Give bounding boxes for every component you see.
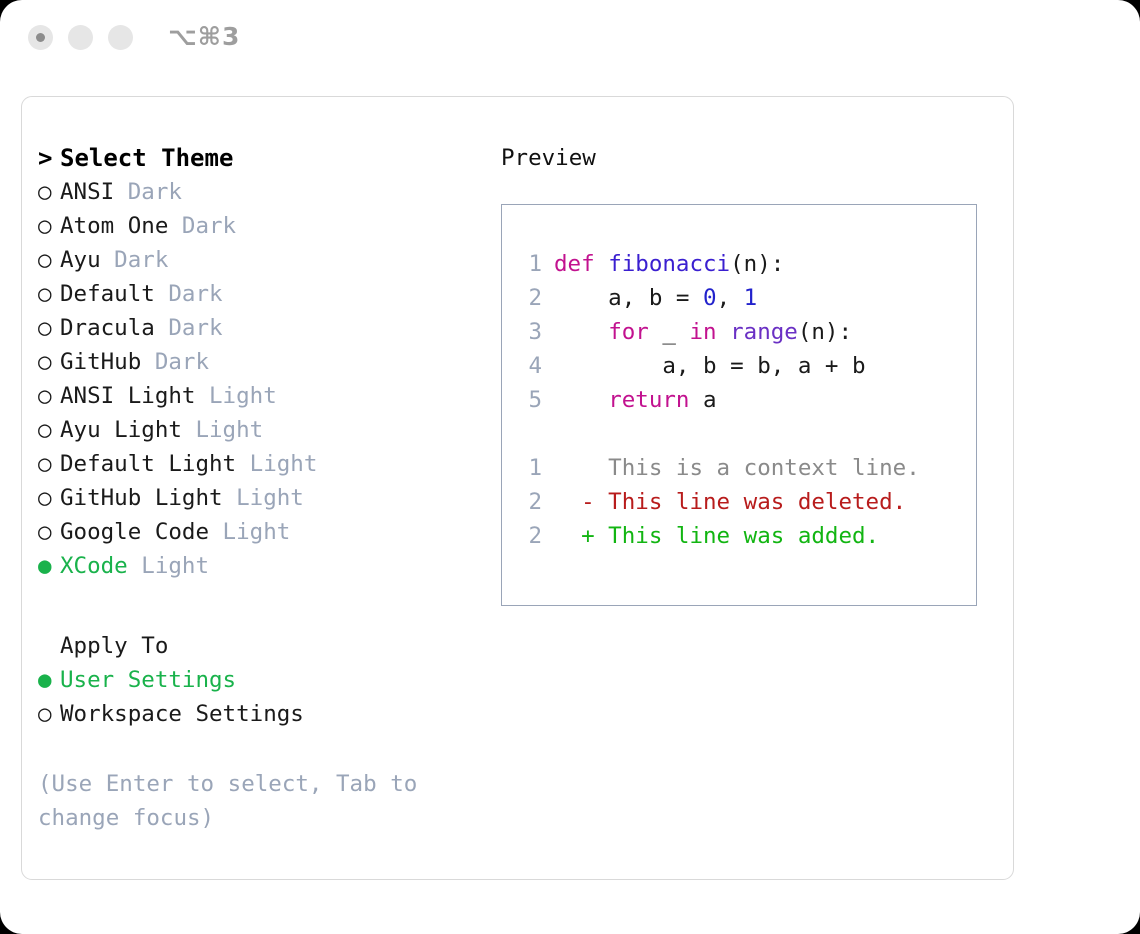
theme-item-variant: Light xyxy=(223,485,304,511)
radio-unselected-icon: ○ xyxy=(38,311,60,345)
theme-item-variant: Light xyxy=(128,553,209,579)
line-number: 4 xyxy=(516,349,542,383)
preview-panel: 1def fibonacci(n):2 a, b = 0, 13 for _ i… xyxy=(501,204,977,606)
diff-line-text: - This line was deleted. xyxy=(554,489,906,515)
line-number: 3 xyxy=(516,315,542,349)
preview-column: Preview 1def fibonacci(n):2 a, b = 0, 13… xyxy=(501,141,1001,606)
apply-to-item-name: Workspace Settings xyxy=(60,701,304,727)
theme-item-xcode[interactable]: ●XCode Light xyxy=(38,549,478,583)
code-blank-line xyxy=(516,417,920,451)
theme-item-ansi[interactable]: ○ANSI Dark xyxy=(38,175,478,209)
code-token: for xyxy=(608,319,649,345)
radio-unselected-icon: ○ xyxy=(38,481,60,515)
window-dot-2[interactable] xyxy=(68,25,93,50)
window-controls xyxy=(28,25,133,50)
radio-unselected-icon: ○ xyxy=(38,209,60,243)
code-token: range xyxy=(730,319,798,345)
select-theme-header: >Select Theme xyxy=(38,141,478,175)
radio-unselected-icon: ○ xyxy=(38,697,60,731)
code-token: def xyxy=(554,251,608,277)
apply-to-item-workspace-settings[interactable]: ○Workspace Settings xyxy=(38,697,478,731)
diff-line-ctx: 1 This is a context line. xyxy=(516,451,920,485)
radio-unselected-icon: ○ xyxy=(38,243,60,277)
theme-item-variant: Dark xyxy=(114,179,182,205)
line-number: 5 xyxy=(516,383,542,417)
code-token xyxy=(717,319,731,345)
radio-unselected-icon: ○ xyxy=(38,447,60,481)
code-line: 3 for _ in range(n): xyxy=(516,315,920,349)
theme-item-name: Ayu xyxy=(60,247,101,273)
theme-item-name: Default xyxy=(60,281,155,307)
theme-picker-card: >Select Theme ○ANSI Dark○Atom One Dark○A… xyxy=(21,96,1014,880)
radio-unselected-icon: ○ xyxy=(38,379,60,413)
apply-to-item-user-settings[interactable]: ●User Settings xyxy=(38,663,478,697)
code-token: , xyxy=(717,285,744,311)
radio-unselected-icon: ○ xyxy=(38,515,60,549)
theme-item-name: Dracula xyxy=(60,315,155,341)
code-line: 5 return a xyxy=(516,383,920,417)
code-token: a, b = b, a + b xyxy=(554,353,866,379)
theme-item-variant: Dark xyxy=(168,213,236,239)
app-window: ⌥⌘3 >Select Theme ○ANSI Dark○Atom One Da… xyxy=(0,0,1140,934)
code-token: (n): xyxy=(798,319,852,345)
theme-item-dracula[interactable]: ○Dracula Dark xyxy=(38,311,478,345)
theme-item-variant: Dark xyxy=(155,315,223,341)
code-line: 2 a, b = 0, 1 xyxy=(516,281,920,315)
line-number: 1 xyxy=(516,451,542,485)
theme-list: ○ANSI Dark○Atom One Dark○Ayu Dark○Defaul… xyxy=(38,175,478,583)
theme-item-variant: Light xyxy=(195,383,276,409)
theme-item-name: Google Code xyxy=(60,519,209,545)
line-number: 2 xyxy=(516,519,542,553)
section-spacer xyxy=(38,583,478,629)
theme-selection-column: >Select Theme ○ANSI Dark○Atom One Dark○A… xyxy=(38,141,478,835)
theme-item-name: Atom One xyxy=(60,213,168,239)
select-theme-label: Select Theme xyxy=(60,144,233,172)
theme-item-variant: Light xyxy=(236,451,317,477)
code-line: 4 a, b = b, a + b xyxy=(516,349,920,383)
diff-line-del: 2 - This line was deleted. xyxy=(516,485,920,519)
code-token: (n): xyxy=(730,251,784,277)
code-token: 1 xyxy=(744,285,758,311)
radio-unselected-icon: ○ xyxy=(38,277,60,311)
theme-item-name: GitHub Light xyxy=(60,485,223,511)
radio-unselected-icon: ○ xyxy=(38,413,60,447)
code-token: a, b = xyxy=(554,285,703,311)
diff-line-add: 2 + This line was added. xyxy=(516,519,920,553)
line-number: 2 xyxy=(516,281,542,315)
theme-item-name: ANSI xyxy=(60,179,114,205)
theme-item-name: ANSI Light xyxy=(60,383,195,409)
radio-unselected-icon: ○ xyxy=(38,345,60,379)
code-token: a xyxy=(689,387,716,413)
code-token: _ xyxy=(649,319,690,345)
keyboard-shortcut-label: ⌥⌘3 xyxy=(168,22,240,51)
theme-item-atom-one[interactable]: ○Atom One Dark xyxy=(38,209,478,243)
code-token: 0 xyxy=(703,285,717,311)
theme-item-name: GitHub xyxy=(60,349,141,375)
code-token xyxy=(554,319,608,345)
theme-item-github[interactable]: ○GitHub Dark xyxy=(38,345,478,379)
theme-item-ansi-light[interactable]: ○ANSI Light Light xyxy=(38,379,478,413)
theme-item-ayu[interactable]: ○Ayu Dark xyxy=(38,243,478,277)
prompt-caret-icon: > xyxy=(38,141,60,175)
theme-item-name: Default Light xyxy=(60,451,236,477)
apply-to-list: ●User Settings○Workspace Settings xyxy=(38,663,478,731)
code-token: return xyxy=(608,387,689,413)
theme-item-variant: Dark xyxy=(155,281,223,307)
theme-item-variant: Dark xyxy=(141,349,209,375)
theme-item-ayu-light[interactable]: ○Ayu Light Light xyxy=(38,413,478,447)
theme-item-github-light[interactable]: ○GitHub Light Light xyxy=(38,481,478,515)
radio-selected-icon: ● xyxy=(38,549,60,583)
theme-item-name: Ayu Light xyxy=(60,417,182,443)
radio-selected-icon: ● xyxy=(38,663,60,697)
radio-unselected-icon: ○ xyxy=(38,175,60,209)
theme-item-default-light[interactable]: ○Default Light Light xyxy=(38,447,478,481)
theme-item-google-code[interactable]: ○Google Code Light xyxy=(38,515,478,549)
code-token xyxy=(554,387,608,413)
preview-title: Preview xyxy=(501,141,1001,175)
line-number: 1 xyxy=(516,247,542,281)
code-token: in xyxy=(689,319,716,345)
title-bar: ⌥⌘3 xyxy=(0,0,1140,78)
apply-to-item-name: User Settings xyxy=(60,667,236,693)
code-line: 1def fibonacci(n): xyxy=(516,247,920,281)
theme-item-variant: Light xyxy=(182,417,263,443)
diff-line-text: This is a context line. xyxy=(554,455,920,481)
line-number: 2 xyxy=(516,485,542,519)
code-token: fibonacci xyxy=(608,251,730,277)
theme-item-default[interactable]: ○Default Dark xyxy=(38,277,478,311)
window-dot-3[interactable] xyxy=(108,25,133,50)
code-sample: 1def fibonacci(n):2 a, b = 0, 13 for _ i… xyxy=(516,247,920,553)
apply-to-header: Apply To xyxy=(38,629,478,663)
window-dot-1[interactable] xyxy=(28,25,53,50)
theme-item-variant: Dark xyxy=(101,247,169,273)
theme-item-variant: Light xyxy=(209,519,290,545)
keyboard-hint-text: (Use Enter to select, Tab to change focu… xyxy=(38,767,438,835)
diff-line-text: + This line was added. xyxy=(554,523,879,549)
theme-item-name: XCode xyxy=(60,553,128,579)
